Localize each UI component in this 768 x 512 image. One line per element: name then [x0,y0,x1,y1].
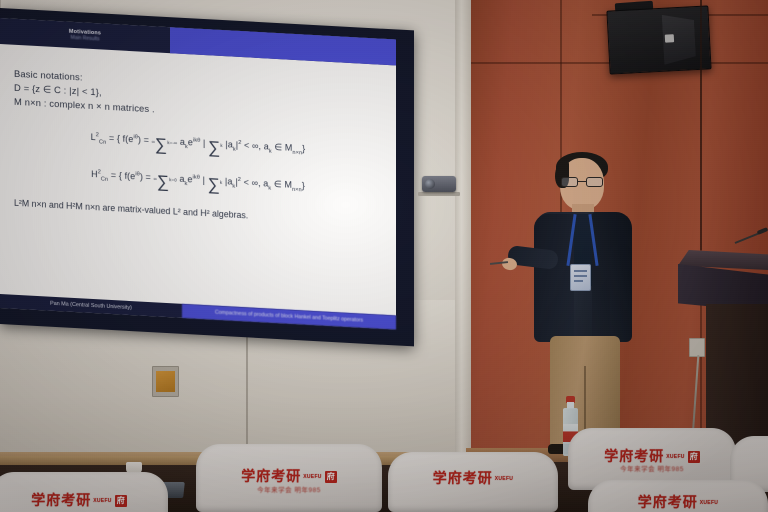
formula1-norm: |a [225,139,233,149]
slide-header-subtitle: Main Results [71,35,100,43]
formula1-cond: < ∞, a [244,140,269,151]
chair-logo-cn: 学府考研 [604,448,664,464]
formula1-lhs-sub: Cn [99,139,106,145]
formula2-close: } [302,180,305,190]
formula1-sum-symbol: ∑ [155,135,167,155]
chair-logo-en: XUEFU [303,475,321,480]
wall-access-panel [152,366,179,397]
presentation-slide: Motivations Main Results Basic notations… [0,18,396,329]
chair-tagline: 今年来学会 明年985 [196,484,382,494]
formula1-tail-sub: n×n [292,150,302,157]
badge-line-3 [574,280,583,282]
presenter-jacket-left [534,214,574,342]
formula1-lhs-sup: 2 [96,132,99,138]
badge-line-2 [574,275,587,277]
chair-logo-cn: 学府考研 [638,494,698,510]
chair-logo: 学府考研XUEFU [588,492,768,512]
formula2-cond-sub: k [268,185,271,191]
chair-logo-cn: 学府考研 [433,470,493,486]
formula2-lhs-sub: Cn [101,176,108,182]
chair-cover: 学府考研XUEFU府 [0,472,168,512]
chair-logo: 学府考研XUEFU府 [0,490,168,510]
formula2-cond: < ∞, a [244,177,269,188]
chair-logo: 学府考研XUEFU府 [196,466,382,486]
chair-logo-stamp: 府 [688,451,700,463]
formula2-lhs: H [91,169,98,179]
formula1-exp-term-sup: ikθ [193,137,200,143]
chair-logo-cn: 学府考研 [241,468,301,484]
slide-body: Basic notations: D = {z ∈ C : |z| < 1}, … [0,44,396,315]
formula1-sum2-symbol: ∑ [208,138,220,158]
chair-tagline: 今年来学会 明年985 [568,463,736,473]
formula1-open: = { f(e [109,133,133,144]
projection-screen: Motivations Main Results Basic notations… [0,8,414,346]
formula2-sum2-lower: k [220,181,222,185]
slide-closing-line: L²M n×n and H²M n×n are matrix-valued L²… [14,197,382,227]
formula1-bar: | [203,138,205,148]
formula2-open: = { f(e [111,170,135,181]
gooseneck-microphone-icon [735,228,768,254]
lecture-room-photo: Motivations Main Results Basic notations… [0,0,768,512]
formula2-sum-symbol: ∑ [157,172,169,192]
formula1-norm-sup: 2 [238,140,241,146]
formula1-sum2-lower: k [220,144,222,148]
presenter-glasses-icon [561,177,603,187]
formula1-tail: ∈ M [274,142,292,153]
microphone-head [757,227,768,235]
chair-cover: 学府考研XUEFU府 今年来学会 明年985 [196,444,382,512]
formula2-bar: | [203,175,205,185]
camera-shelf [418,192,460,196]
wall-cable [700,0,702,250]
badge-line-1 [574,270,587,272]
speaker-badge [665,34,674,42]
wall-panel-face [156,371,175,392]
presenter-name-badge [570,264,591,291]
wall-pillar [455,0,471,460]
formula1-close: } [302,143,305,153]
formula2-tail-sub: n×n [292,186,302,193]
glasses-lens-left [561,177,578,187]
chair-cover: 学府考研XUEFU [588,480,768,512]
slide-formula-H2: H2Cn = { f(eiθ) = ∞∑k=0 akeikθ | ∑k |ak|… [14,165,382,198]
formula1-cond-sub: k [269,148,272,154]
presenter-arm-right [610,244,632,342]
chair-cover: 学府考研XUEFU [388,452,558,512]
formula2-sum-lower: k=0 [169,178,177,183]
formula2-sum2-symbol: ∑ [208,175,220,195]
chair-logo-cn: 学府考研 [31,492,91,508]
formula1-sum-lower: k=-∞ [167,141,177,146]
formula2-exp-term-sup: ikθ [193,174,200,180]
camera-lens-icon [425,179,435,189]
chair-logo-stamp: 府 [115,495,127,507]
lectern [678,250,768,450]
chair-logo-en: XUEFU [700,501,718,506]
chair-logo-en: XUEFU [93,499,111,504]
chair-logo-stamp: 府 [325,471,337,483]
glasses-bridge [578,181,586,182]
chair-logo: 学府考研XUEFU [388,468,558,488]
chair-logo-en: XUEFU [666,455,684,460]
glasses-lens-right [586,177,603,187]
formula2-norm-sup: 2 [238,177,241,183]
formula2-lhs-sup: 2 [98,169,101,175]
chair-logo-en: XUEFU [495,477,513,482]
slide-formula-L2: L2Cn = { f(eiθ) = ∞∑k=-∞ akeikθ | ∑k |ak… [14,128,382,161]
formula2-tail: ∈ M [274,179,292,190]
wall-speaker [606,5,711,74]
wall-camera-icon [422,176,456,192]
